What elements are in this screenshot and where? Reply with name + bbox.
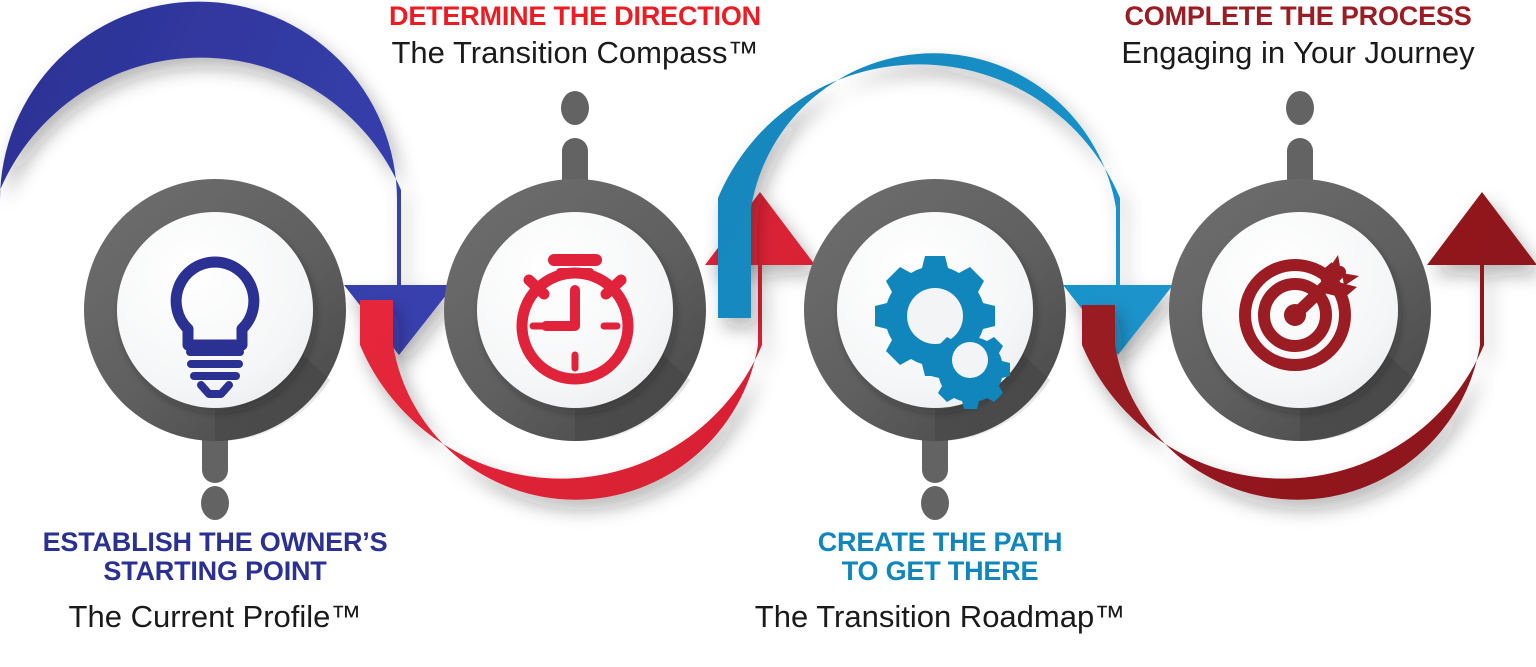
node-step-3[interactable] — [804, 179, 1066, 441]
label-step-3-subtitle: The Transition Roadmap™ — [700, 600, 1180, 633]
label-step-1: ESTABLISH THE OWNER’S STARTING POINT The… — [0, 528, 430, 634]
label-step-2-subtitle: The Transition Compass™ — [330, 36, 820, 69]
label-step-3-heading: CREATE THE PATH TO GET THERE — [700, 528, 1180, 586]
infographic-canvas: ESTABLISH THE OWNER’S STARTING POINT The… — [0, 0, 1536, 667]
node-step-2[interactable] — [444, 179, 706, 441]
label-step-4-subtitle: Engaging in Your Journey — [1060, 36, 1536, 69]
label-step-1-subtitle: The Current Profile™ — [0, 600, 430, 633]
label-step-1-heading: ESTABLISH THE OWNER’S STARTING POINT — [0, 528, 430, 586]
node-step-4[interactable] — [1169, 179, 1431, 441]
label-step-2-heading: DETERMINE THE DIRECTION — [330, 2, 820, 31]
label-step-4-heading: COMPLETE THE PROCESS — [1060, 2, 1536, 31]
label-step-2: DETERMINE THE DIRECTION The Transition C… — [330, 2, 820, 70]
node-step-1[interactable] — [84, 179, 346, 441]
label-step-3: CREATE THE PATH TO GET THERE The Transit… — [700, 528, 1180, 634]
label-step-4: COMPLETE THE PROCESS Engaging in Your Jo… — [1060, 2, 1536, 70]
